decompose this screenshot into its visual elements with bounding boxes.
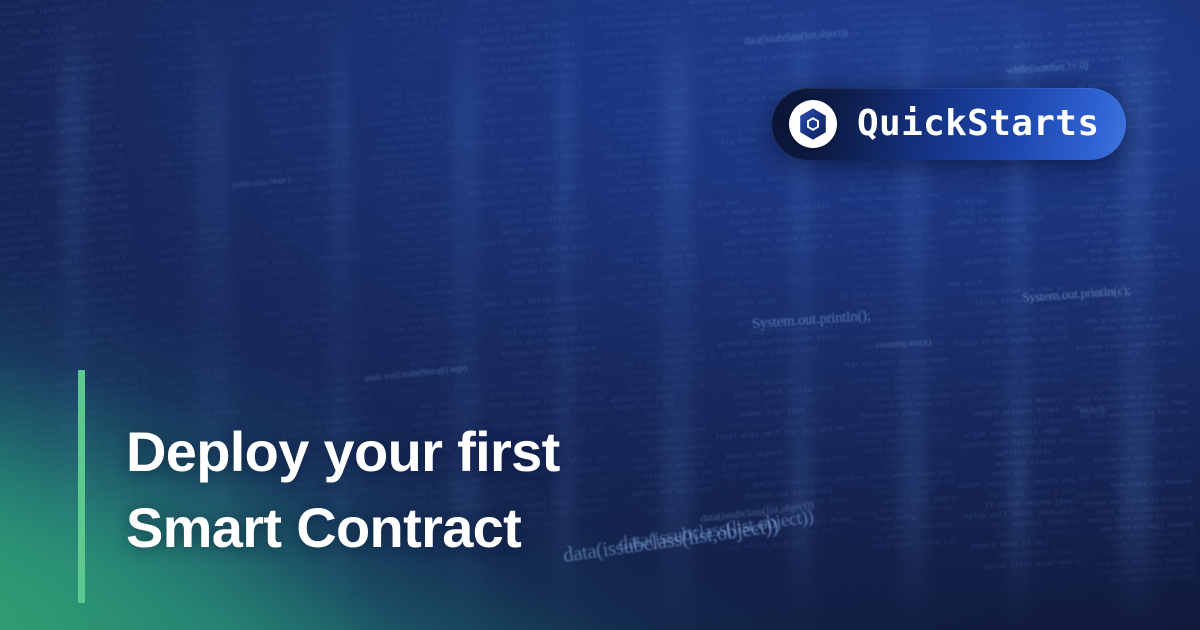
headline-line-2: Smart Contract — [126, 490, 560, 566]
quickstarts-banner: extends result private import value if c… — [0, 0, 1200, 630]
quickstarts-badge[interactable]: QuickStarts — [772, 88, 1126, 160]
headline-block: Deploy your first Smart Contract — [78, 370, 560, 603]
page-title: Deploy your first Smart Contract — [126, 408, 560, 566]
headline-line-1: Deploy your first — [126, 414, 560, 490]
chainlink-hexagon-icon — [789, 100, 837, 148]
accent-bar — [78, 370, 85, 603]
quickstarts-badge-label: QuickStarts — [857, 106, 1099, 142]
